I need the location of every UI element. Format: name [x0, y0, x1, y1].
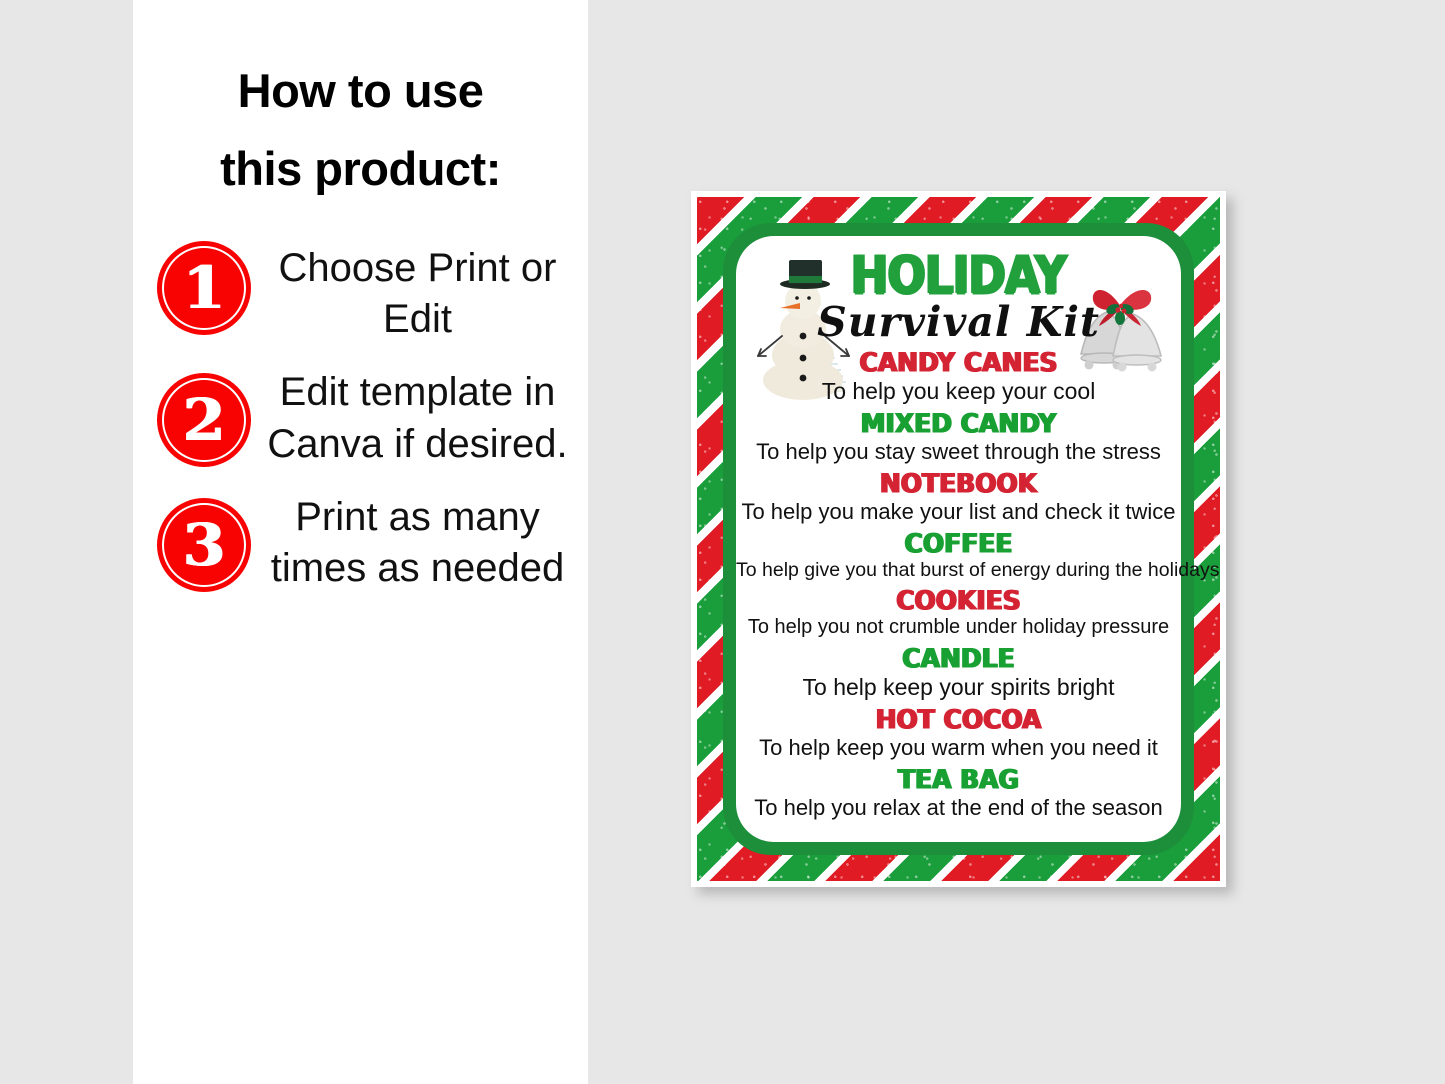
poster-item-heading: COFFEE	[736, 529, 1181, 559]
poster-item-heading: TEA BAG	[736, 765, 1181, 795]
poster-title-sub: Survival Kit	[736, 301, 1181, 344]
poster-item-heading: CANDY CANES	[736, 348, 1181, 378]
poster-item-description: To help you stay sweet through the stres…	[736, 439, 1181, 465]
step-number-label: 3	[183, 516, 225, 574]
steps-list: 1Choose Print or Edit2Edit template in C…	[133, 235, 588, 594]
step-number-label: 1	[183, 259, 225, 317]
poster-item-description: To help keep your spirits bright	[736, 674, 1181, 701]
step-number-label: 2	[183, 391, 225, 449]
poster-card: HOLIDAY Survival Kit CANDY CANESTo help …	[736, 236, 1181, 842]
poster-item-heading: NOTEBOOK	[736, 469, 1181, 499]
instruction-step: 2Edit template in Canva if desired.	[133, 367, 588, 469]
step-description: Edit template in Canva if desired.	[251, 367, 588, 469]
page-title: How to use this product:	[196, 52, 526, 207]
poster-item-heading: HOT COCOA	[736, 705, 1181, 735]
instruction-step: 3Print as many times as needed	[133, 492, 588, 594]
poster-item-description: To help keep you warm when you need it	[736, 735, 1181, 761]
poster-item-description: To help you relax at the end of the seas…	[736, 795, 1181, 821]
poster-header: HOLIDAY Survival Kit	[736, 236, 1181, 344]
poster-items-list: CANDY CANESTo help you keep your coolMIX…	[736, 349, 1181, 821]
poster-item-heading: MIXED CANDY	[736, 409, 1181, 439]
poster-preview[interactable]: HOLIDAY Survival Kit CANDY CANESTo help …	[691, 191, 1226, 887]
step-description: Print as many times as needed	[251, 492, 588, 594]
step-number-badge: 2	[157, 373, 251, 467]
step-number-badge: 3	[157, 498, 251, 592]
poster-item-description: To help you keep your cool	[736, 378, 1181, 405]
poster-item-heading: COOKIES	[736, 586, 1181, 616]
poster-item-heading: CANDLE	[736, 644, 1181, 674]
step-description: Choose Print or Edit	[251, 235, 588, 345]
green-frame: HOLIDAY Survival Kit CANDY CANESTo help …	[723, 223, 1194, 855]
instruction-step: 1Choose Print or Edit	[133, 235, 588, 345]
poster-title-main: HOLIDAY	[745, 249, 1172, 302]
step-number-badge: 1	[157, 241, 251, 335]
instructions-panel: How to use this product: 1Choose Print o…	[133, 0, 588, 1084]
candy-cane-striped-border: HOLIDAY Survival Kit CANDY CANESTo help …	[697, 197, 1220, 881]
poster-item-description: To help you make your list and check it …	[736, 499, 1181, 525]
poster-item-description: To help you not crumble under holiday pr…	[736, 616, 1181, 640]
poster-item-description: To help give you that burst of energy du…	[736, 559, 1181, 582]
